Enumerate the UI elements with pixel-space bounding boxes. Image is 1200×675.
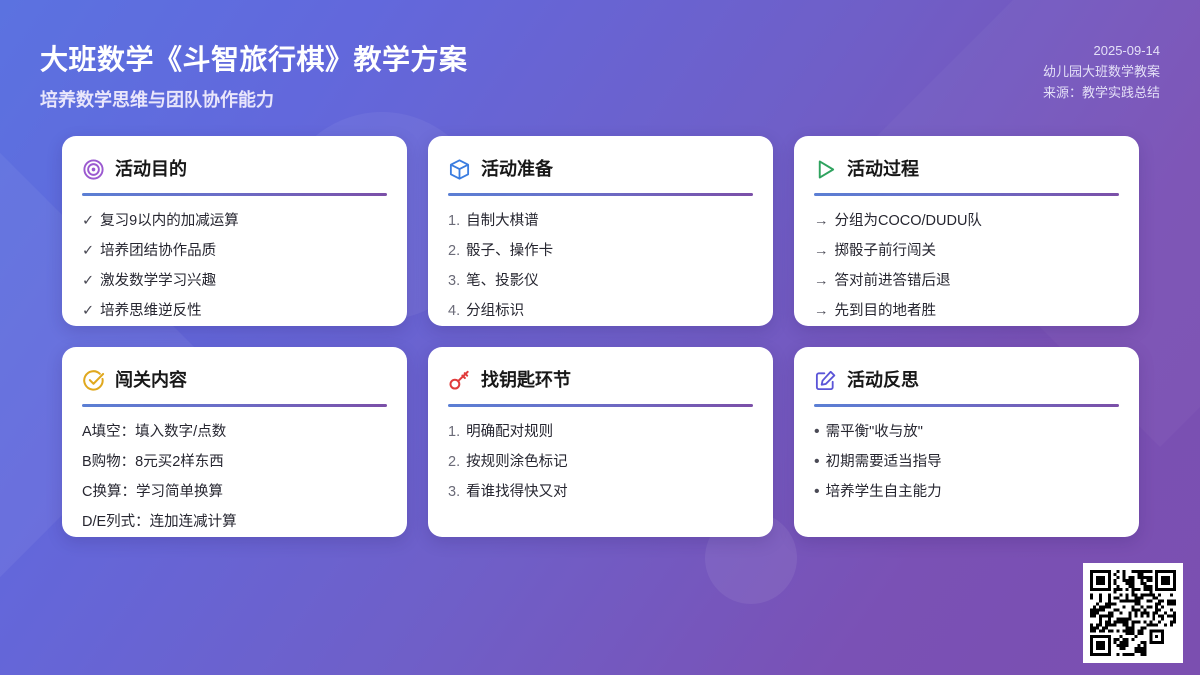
list-item-label: C换算：学习简单换算 [82, 477, 223, 507]
card-item-list: →分组为COCO/DUDU队→掷骰子前行闯关→答对前进答错后退→先到目的地者胜 [814, 206, 1119, 326]
arrow-right-icon: → [814, 206, 829, 236]
circle-check-icon [82, 369, 105, 392]
list-item-label: 复习9以内的加减运算 [100, 206, 239, 236]
meta-category: 幼儿园大班数学教案 [1043, 61, 1160, 82]
card-grid: 活动目的✓复习9以内的加减运算✓培养团结协作品质✓激发数学学习兴趣✓培养思维逆反… [62, 136, 1138, 537]
card-header: 活动过程 [814, 154, 1119, 184]
card-title: 活动准备 [481, 158, 553, 181]
key-icon [448, 369, 471, 392]
list-item-number: 4. [448, 296, 460, 326]
list-item: 2.按规则涂色标记 [448, 447, 753, 477]
list-item: C换算：学习简单换算 [82, 477, 387, 507]
list-item-number: 1. [448, 417, 460, 447]
slide-header: 大班数学《斗智旅行棋》教学方案 培养数学思维与团队协作能力 2025-09-14… [0, 0, 1200, 122]
list-item: 3.看谁找得快又对 [448, 477, 753, 507]
card-divider [82, 193, 387, 196]
list-item-label: 激发数学学习兴趣 [100, 266, 216, 296]
list-item-label: 培养学生自主能力 [826, 477, 942, 507]
list-item-label: 看谁找得快又对 [466, 477, 568, 507]
list-item-label: 培养团结协作品质 [100, 236, 216, 266]
list-item: •培养学生自主能力 [814, 477, 1119, 507]
header-meta: 2025-09-14 幼儿园大班数学教案 来源：教学实践总结 [1043, 40, 1160, 103]
check-icon: ✓ [82, 296, 94, 326]
card-divider [448, 193, 753, 196]
list-item: →分组为COCO/DUDU队 [814, 206, 1119, 236]
list-item-label: 需平衡"收与放" [826, 417, 923, 447]
arrow-right-icon: → [814, 266, 829, 296]
card-item-list: •需平衡"收与放"•初期需要适当指导•培养学生自主能力 [814, 417, 1119, 507]
list-item-label: 自制大棋谱 [466, 206, 539, 236]
list-item: ✓培养团结协作品质 [82, 236, 387, 266]
list-item-label: 答对前进答错后退 [835, 266, 951, 296]
card-2: 活动准备1.自制大棋谱2.骰子、操作卡3.笔、投影仪4.分组标识 [428, 136, 773, 326]
list-item-label: B购物：8元买2样东西 [82, 447, 224, 477]
bullet-icon: • [814, 417, 820, 447]
list-item-label: 初期需要适当指导 [826, 447, 942, 477]
list-item-label: 分组标识 [466, 296, 524, 326]
list-item: •初期需要适当指导 [814, 447, 1119, 477]
slide-root: 大班数学《斗智旅行棋》教学方案 培养数学思维与团队协作能力 2025-09-14… [0, 0, 1200, 675]
list-item-label: 培养思维逆反性 [100, 296, 202, 326]
card-title: 活动过程 [847, 158, 919, 181]
list-item-number: 3. [448, 477, 460, 507]
list-item-number: 1. [448, 206, 460, 236]
card-title: 活动目的 [115, 158, 187, 181]
meta-source: 来源：教学实践总结 [1043, 82, 1160, 103]
card-divider [448, 404, 753, 407]
list-item-label: 掷骰子前行闯关 [835, 236, 937, 266]
card-item-list: 1.明确配对规则2.按规则涂色标记3.看谁找得快又对 [448, 417, 753, 507]
card-5: 找钥匙环节1.明确配对规则2.按规则涂色标记3.看谁找得快又对 [428, 347, 773, 537]
card-4: 闯关内容A填空：填入数字/点数B购物：8元买2样东西C换算：学习简单换算D/E列… [62, 347, 407, 537]
card-title: 活动反思 [847, 369, 919, 392]
list-item-label: 先到目的地者胜 [835, 296, 937, 326]
list-item: 1.明确配对规则 [448, 417, 753, 447]
list-item-number: 2. [448, 236, 460, 266]
list-item-label: 骰子、操作卡 [466, 236, 553, 266]
bullet-icon: • [814, 447, 820, 477]
package-box-icon [448, 158, 471, 181]
qr-code [1090, 570, 1176, 656]
list-item: 4.分组标识 [448, 296, 753, 326]
list-item: →掷骰子前行闯关 [814, 236, 1119, 266]
list-item-number: 2. [448, 447, 460, 477]
card-item-list: ✓复习9以内的加减运算✓培养团结协作品质✓激发数学学习兴趣✓培养思维逆反性 [82, 206, 387, 326]
list-item-number: 3. [448, 266, 460, 296]
card-header: 找钥匙环节 [448, 365, 753, 395]
list-item-label: 按规则涂色标记 [466, 447, 568, 477]
page-title: 大班数学《斗智旅行棋》教学方案 [40, 38, 468, 78]
check-icon: ✓ [82, 266, 94, 296]
target-icon [82, 158, 105, 181]
check-icon: ✓ [82, 236, 94, 266]
meta-date: 2025-09-14 [1043, 40, 1160, 61]
list-item: A填空：填入数字/点数 [82, 417, 387, 447]
page-subtitle: 培养数学思维与团队协作能力 [40, 86, 274, 112]
edit-square-icon [814, 369, 837, 392]
list-item: D/E列式：连加连减计算 [82, 507, 387, 537]
list-item: ✓培养思维逆反性 [82, 296, 387, 326]
list-item-label: D/E列式：连加连减计算 [82, 507, 237, 537]
list-item: →答对前进答错后退 [814, 266, 1119, 296]
card-divider [814, 404, 1119, 407]
card-title: 找钥匙环节 [481, 369, 571, 392]
list-item-label: 分组为COCO/DUDU队 [835, 206, 982, 236]
arrow-right-icon: → [814, 236, 829, 266]
list-item-label: 笔、投影仪 [466, 266, 539, 296]
card-title: 闯关内容 [115, 369, 187, 392]
list-item-label: A填空：填入数字/点数 [82, 417, 226, 447]
list-item-label: 明确配对规则 [466, 417, 553, 447]
card-header: 活动反思 [814, 365, 1119, 395]
qr-code-container[interactable] [1083, 563, 1183, 663]
bullet-icon: • [814, 477, 820, 507]
list-item: B购物：8元买2样东西 [82, 447, 387, 477]
card-item-list: A填空：填入数字/点数B购物：8元买2样东西C换算：学习简单换算D/E列式：连加… [82, 417, 387, 537]
card-1: 活动目的✓复习9以内的加减运算✓培养团结协作品质✓激发数学学习兴趣✓培养思维逆反… [62, 136, 407, 326]
list-item: ✓激发数学学习兴趣 [82, 266, 387, 296]
card-header: 活动准备 [448, 154, 753, 184]
list-item: •需平衡"收与放" [814, 417, 1119, 447]
play-triangle-icon [814, 158, 837, 181]
list-item: 3.笔、投影仪 [448, 266, 753, 296]
card-divider [82, 404, 387, 407]
list-item: 1.自制大棋谱 [448, 206, 753, 236]
card-header: 闯关内容 [82, 365, 387, 395]
card-6: 活动反思•需平衡"收与放"•初期需要适当指导•培养学生自主能力 [794, 347, 1139, 537]
list-item: ✓复习9以内的加减运算 [82, 206, 387, 236]
list-item: →先到目的地者胜 [814, 296, 1119, 326]
card-divider [814, 193, 1119, 196]
list-item: 2.骰子、操作卡 [448, 236, 753, 266]
card-header: 活动目的 [82, 154, 387, 184]
check-icon: ✓ [82, 206, 94, 236]
arrow-right-icon: → [814, 296, 829, 326]
card-item-list: 1.自制大棋谱2.骰子、操作卡3.笔、投影仪4.分组标识 [448, 206, 753, 326]
card-3: 活动过程→分组为COCO/DUDU队→掷骰子前行闯关→答对前进答错后退→先到目的… [794, 136, 1139, 326]
